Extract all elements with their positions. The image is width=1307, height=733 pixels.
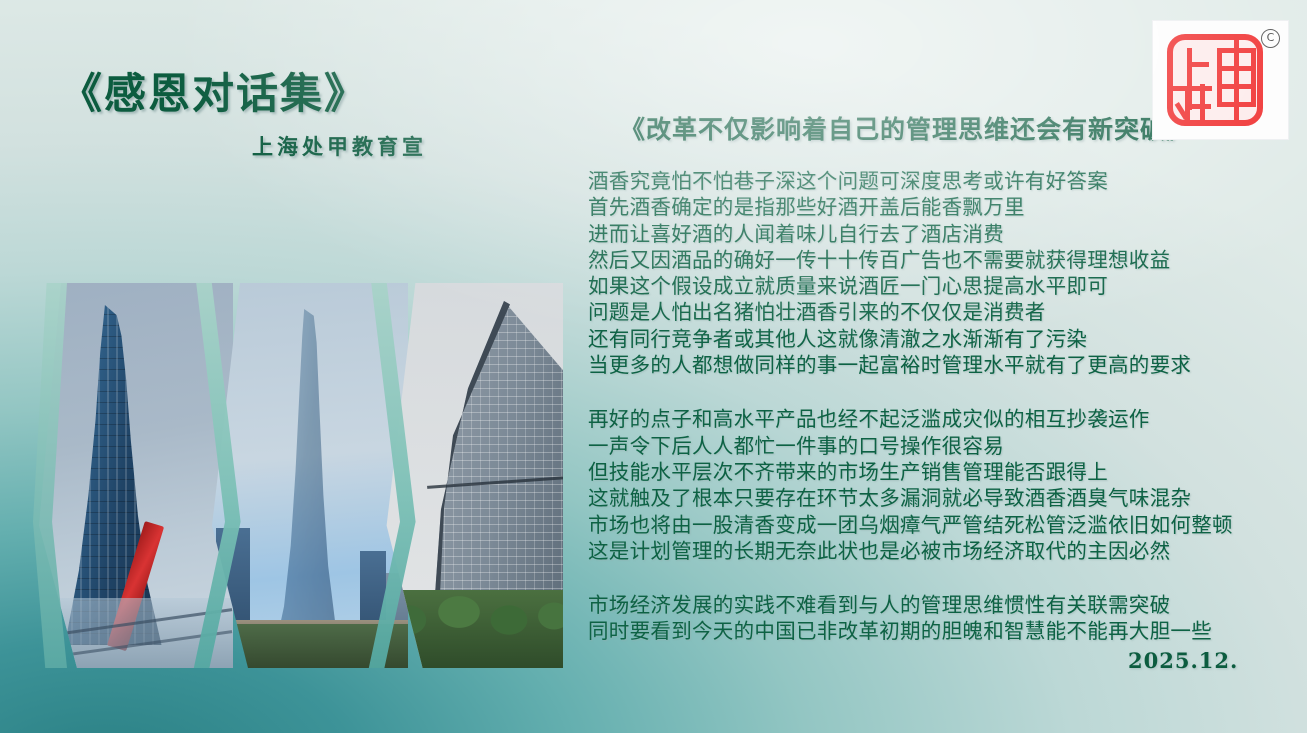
body-line: 市场经济发展的实践不难看到与人的管理思维惯性有关联需突破 — [588, 592, 1268, 618]
document-heading: 《改革不仅影响着自己的管理思维还会有新突破》 — [620, 110, 1192, 146]
body-line: 这就触及了根本只要存在环节太多漏洞就必导致酒香酒臭气味混杂 — [588, 485, 1268, 511]
body-line: 然后又因酒品的确好一传十十传百广告也不需要就获得理想收益 — [588, 247, 1268, 273]
body-line: 如果这个假设成立就质量来说酒匠一门心思提高水平即可 — [588, 273, 1268, 299]
body-line: 还有同行竞争者或其他人这就像清澈之水渐渐有了污染 — [588, 326, 1268, 352]
logo: C — [1152, 20, 1289, 140]
chevron-icon — [183, 283, 243, 668]
paragraph-2: 再好的点子和高水平产品也经不起泛滥成灾似的相互抄袭运作 一声令下后人人都忙一件事… — [588, 406, 1268, 564]
page-title: 《感恩对话集》 — [60, 60, 368, 121]
copyright-icon: C — [1261, 29, 1280, 48]
body-line: 首先酒香确定的是指那些好酒开盖后能香飘万里 — [588, 194, 1268, 220]
body-line: 市场也将由一股清香变成一团乌烟瘴气严管结死松管泛滥依旧如何整顿 — [588, 512, 1268, 538]
body-line: 问题是人怕出名猪怕壮酒香引来的不仅仅是消费者 — [588, 299, 1268, 325]
paragraph-3: 市场经济发展的实践不难看到与人的管理思维惯性有关联需突破 同时要看到今天的中国已… — [588, 592, 1268, 645]
body-line: 当更多的人都想做同样的事一起富裕时管理水平就有了更高的要求 — [588, 352, 1268, 378]
photo-collage — [33, 283, 563, 668]
document-body: 酒香究竟怕不怕巷子深这个问题可深度思考或许有好答案 首先酒香确定的是指那些好酒开… — [588, 168, 1268, 645]
body-line: 酒香究竟怕不怕巷子深这个问题可深度思考或许有好答案 — [588, 168, 1268, 194]
shanghai-tower-shading — [260, 309, 356, 647]
jinmao-tower-shape — [53, 305, 171, 645]
chevron-icon — [358, 283, 418, 668]
body-line: 但技能水平层次不齐带来的市场生产销售管理能否跟得上 — [588, 459, 1268, 485]
chevron-divider-1 — [183, 283, 243, 668]
body-line: 这是计划管理的长期无奈此状也是必被市场经济取代的主因必然 — [588, 538, 1268, 564]
slide-canvas: 《感恩对话集》 上海处甲教育宣 — [0, 0, 1307, 733]
chevron-divider-2 — [358, 283, 418, 668]
body-line: 一声令下后人人都忙一件事的口号操作很容易 — [588, 433, 1268, 459]
body-line: 再好的点子和高水平产品也经不起泛滥成灾似的相互抄袭运作 — [588, 406, 1268, 432]
body-line: 同时要看到今天的中国已非改革初期的胆魄和智慧能不能再大胆一些 — [588, 618, 1268, 644]
seal-icon — [1167, 34, 1263, 126]
date-stamp: 2025.12. — [1128, 648, 1238, 673]
page-subtitle: 上海处甲教育宣 — [252, 131, 427, 161]
body-line: 进而让喜好酒的人闻着味儿自行去了酒店消费 — [588, 221, 1268, 247]
paragraph-1: 酒香究竟怕不怕巷子深这个问题可深度思考或许有好答案 首先酒香确定的是指那些好酒开… — [588, 168, 1268, 378]
